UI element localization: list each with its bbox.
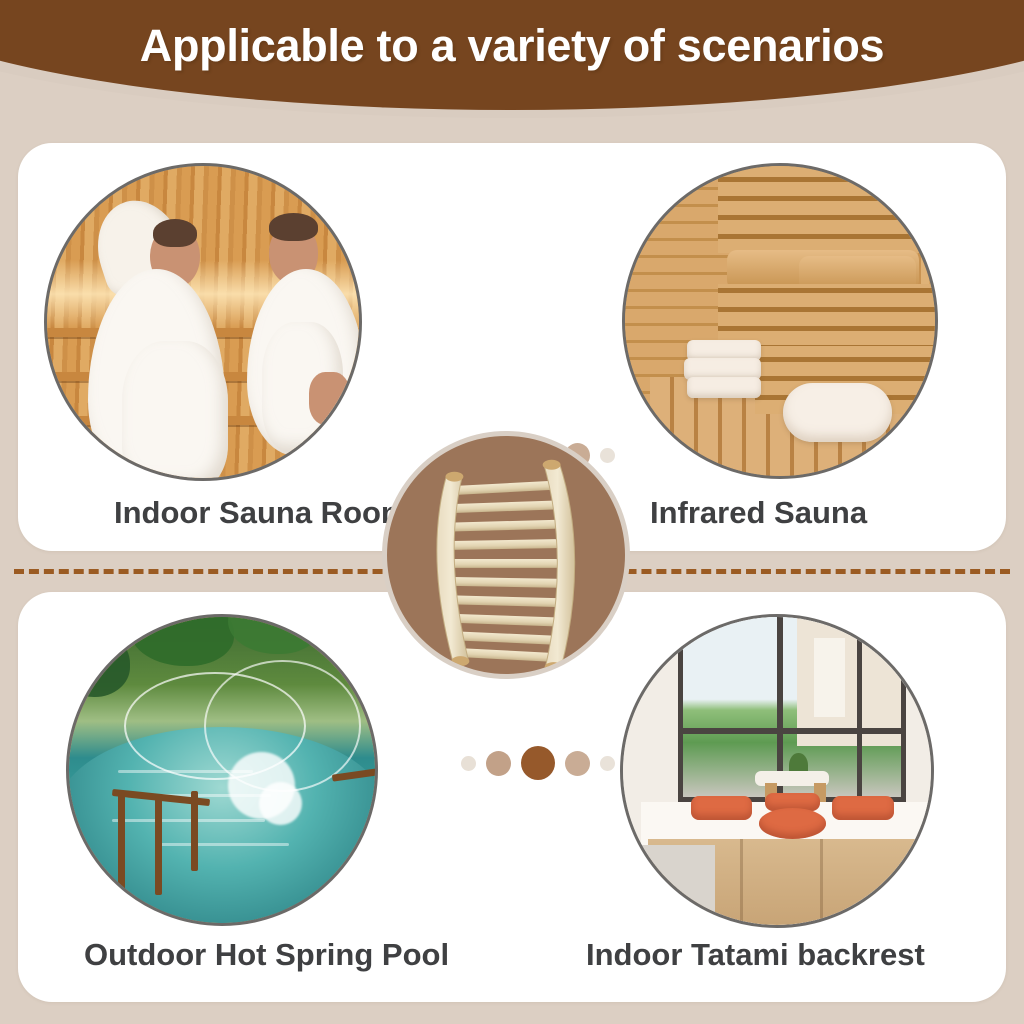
- dot-1: [461, 756, 476, 771]
- panel-label-indoor-tatami-backrest: Indoor Tatami backrest: [586, 937, 1006, 973]
- indoor-tatami-backrest-photo: [620, 614, 934, 928]
- backrest-illustration: [387, 436, 625, 674]
- wooden-sauna-backrest-product: [382, 431, 630, 679]
- dot-5: [600, 756, 615, 771]
- panel-label-outdoor-hot-spring-pool: Outdoor Hot Spring Pool: [84, 937, 504, 973]
- dot-2: [486, 751, 511, 776]
- dot-group-bottom: [461, 746, 615, 780]
- infrared-sauna-photo: [622, 163, 938, 479]
- panel-label-infrared-sauna: Infrared Sauna: [650, 495, 1024, 531]
- dot-4: [565, 751, 590, 776]
- page-title: Applicable to a variety of scenarios: [0, 20, 1024, 72]
- outdoor-hot-spring-pool-photo: [66, 614, 378, 926]
- indoor-sauna-room-photo: [44, 163, 362, 481]
- dot-3: [521, 746, 555, 780]
- infographic-page: Applicable to a variety of scenarios: [0, 0, 1024, 1024]
